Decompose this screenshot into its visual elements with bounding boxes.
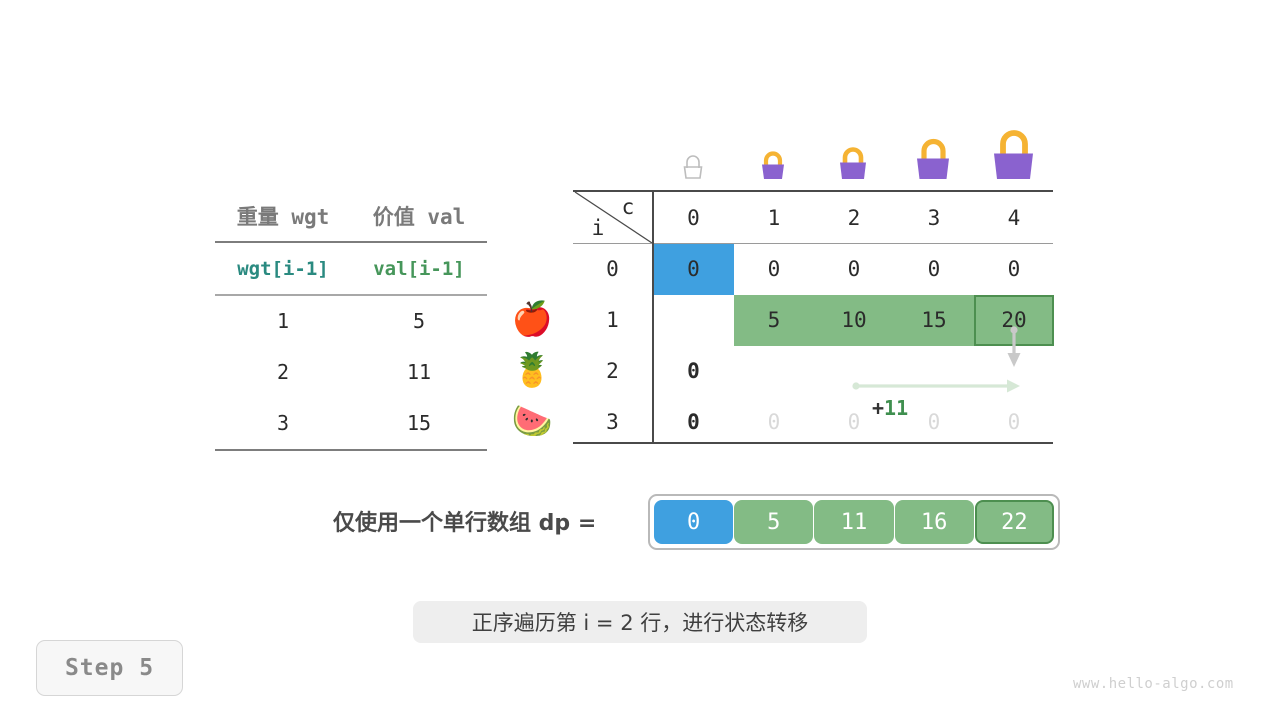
dp-array-container: 0 5 11 16 22 xyxy=(648,494,1060,550)
cell-wgt-3: 3 xyxy=(215,411,351,435)
cell-val-2: 11 xyxy=(351,360,487,384)
matrix-col-header-2: 2 xyxy=(814,203,894,233)
matrix-row-header-0: 0 xyxy=(573,254,652,284)
matrix-header-separator xyxy=(573,243,1053,244)
matrix-cell-2-0: 0 xyxy=(653,356,734,386)
matrix-cell-1-4: 20 xyxy=(974,305,1054,335)
dp-array-cell-3[interactable]: 16 xyxy=(895,500,974,544)
matrix-border-top xyxy=(573,190,1053,192)
items-table-subheader-row: wgt[i-1] val[i-1] xyxy=(215,243,487,294)
matrix-cell-1-2: 10 xyxy=(814,305,894,335)
matrix-cell-2-1: 5 xyxy=(734,356,814,386)
handbag-icon xyxy=(733,120,813,182)
plus-amount: 11 xyxy=(884,396,908,420)
matrix-col-header-4: 4 xyxy=(974,203,1054,233)
items-table-rule-bottom xyxy=(215,449,487,451)
matrix-row-header-1: 1 xyxy=(573,305,652,335)
matrix-cell-1-1: 5 xyxy=(734,305,814,335)
matrix-col-header-3: 3 xyxy=(894,203,974,233)
step-badge: Step 5 xyxy=(36,640,183,696)
step-caption: 正序遍历第 i = 2 行，进行状态转移 xyxy=(413,601,867,643)
matrix-cell-1-3: 15 xyxy=(894,305,974,335)
matrix-cell-0-3: 0 xyxy=(894,254,974,284)
matrix-cell-3-1: 0 xyxy=(734,407,814,437)
dp-array-cell-4[interactable]: 22 xyxy=(975,500,1054,544)
items-table: 重量 wgt 价值 val wgt[i-1] val[i-1] 1 5 2 11… xyxy=(215,190,487,451)
matrix-row-axis-label: i xyxy=(583,214,613,242)
watermark: www.hello-algo.com xyxy=(1073,676,1234,692)
slide-canvas: 重量 wgt 价值 val wgt[i-1] val[i-1] 1 5 2 11… xyxy=(0,0,1280,720)
header-value: 价值 val xyxy=(351,201,487,231)
table-row: 1 5 xyxy=(215,296,487,347)
handbag-icon xyxy=(973,120,1053,182)
matrix-cell-2-4: 22 xyxy=(974,356,1054,386)
bag-capacity-icons xyxy=(653,120,1053,182)
matrix-cell-0-0: 0 xyxy=(653,254,734,284)
matrix-cell-0-4: 0 xyxy=(974,254,1054,284)
plus-sign: + xyxy=(872,396,884,420)
matrix-cell-0-1: 0 xyxy=(734,254,814,284)
matrix-row-header-3: 3 xyxy=(573,407,652,437)
handbag-icon xyxy=(813,120,893,182)
watermelon-icon: 🍉 xyxy=(508,397,556,445)
matrix-row-header-2: 2 xyxy=(573,356,652,386)
matrix-border-bottom xyxy=(573,442,1053,444)
subheader-wgt-expr: wgt[i-1] xyxy=(215,258,351,280)
handbag-icon xyxy=(893,120,973,182)
dp-array-label: 仅使用一个单行数组 dp = xyxy=(333,505,596,537)
matrix-cell-3-0: 0 xyxy=(653,407,734,437)
table-row: 3 15 xyxy=(215,398,487,449)
header-weight: 重量 wgt xyxy=(215,201,351,231)
table-row: 2 11 xyxy=(215,347,487,398)
matrix-cell-1-0: 0 xyxy=(653,305,734,335)
cell-wgt-2: 2 xyxy=(215,360,351,384)
apple-icon: 🍎 xyxy=(508,295,556,343)
handbag-icon xyxy=(653,120,733,182)
matrix-cell-0-2: 0 xyxy=(814,254,894,284)
items-table-header-row: 重量 wgt 价值 val xyxy=(215,190,487,241)
matrix-cell-2-2: 11 xyxy=(814,356,894,386)
subheader-val-expr: val[i-1] xyxy=(351,258,487,280)
matrix-cell-2-3: 16 xyxy=(894,356,974,386)
cell-val-3: 15 xyxy=(351,411,487,435)
dp-array-cell-1[interactable]: 5 xyxy=(734,500,813,544)
matrix-cell-3-4: 0 xyxy=(974,407,1054,437)
matrix-col-header-1: 1 xyxy=(734,203,814,233)
cell-wgt-1: 1 xyxy=(215,309,351,333)
dp-matrix: c i 0 1 2 3 4 0 0 0 0 0 0 1 0 5 10 15 20… xyxy=(573,190,1053,444)
transfer-amount-annotation: +11 xyxy=(872,396,908,420)
dp-array-cell-0[interactable]: 0 xyxy=(654,500,733,544)
dp-array-cell-2[interactable]: 11 xyxy=(814,500,893,544)
cell-val-1: 5 xyxy=(351,309,487,333)
pineapple-icon: 🍍 xyxy=(508,346,556,394)
matrix-col-header-0: 0 xyxy=(653,203,734,233)
matrix-col-axis-label: c xyxy=(613,193,643,221)
